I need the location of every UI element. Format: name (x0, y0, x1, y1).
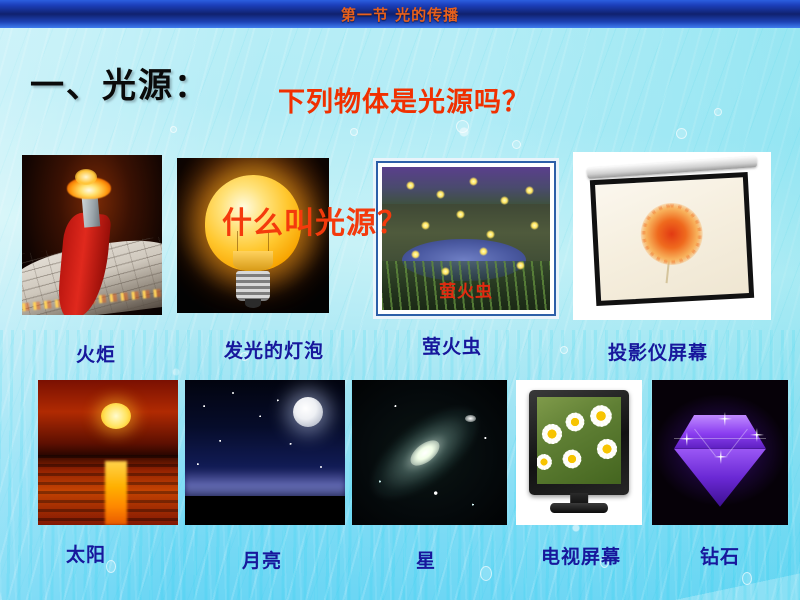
image-diamond (652, 380, 788, 525)
caption-star: 星 (416, 546, 436, 573)
image-projector-screen (573, 152, 771, 320)
screen-surface (590, 171, 755, 305)
image-torch (22, 155, 162, 315)
image-moon (185, 380, 345, 525)
image-sun (38, 380, 178, 525)
caption-diamond: 钻石 (700, 542, 740, 569)
tv-stand-base (550, 503, 608, 513)
caption-lightbulb: 发光的灯泡 (224, 336, 324, 363)
caption-tv: 电视屏幕 (541, 542, 621, 569)
overlay-question-text: 什么叫光源？ (222, 198, 408, 242)
subheading-question: 下列物体是光源吗？ (278, 80, 530, 119)
moon-disc (293, 397, 323, 427)
torch-handle (81, 196, 100, 227)
caption-firefly: 萤火虫 (422, 332, 482, 359)
slide-canvas: 第一节 光的传播 一、光源： 下列物体是光源吗？ (0, 0, 800, 600)
sun-reflection (105, 461, 127, 525)
bulb-screw-base (236, 271, 270, 301)
bulb-tip (245, 299, 261, 308)
slide-title-bar: 第一节 光的传播 (0, 0, 800, 28)
caption-sun: 太阳 (66, 540, 106, 567)
galaxy-satellite (465, 415, 476, 422)
sun-disc (101, 403, 131, 429)
torch-flame-core (75, 169, 97, 185)
caption-moon: 月亮 (242, 546, 282, 573)
image-television (516, 380, 642, 525)
page-title: 一、光源： (30, 58, 210, 107)
bulb-neck (233, 251, 273, 271)
slide-title-text: 第一节 光的传播 (341, 4, 459, 25)
tv-bezel (529, 390, 630, 494)
treeline-silhouette (185, 496, 345, 525)
tv-screen-content (537, 397, 622, 483)
caption-screen: 投影仪屏幕 (608, 338, 708, 365)
firefly-inner-label: 萤火虫 (439, 277, 493, 302)
caption-torch: 火炬 (76, 340, 116, 367)
image-galaxy (352, 380, 507, 525)
